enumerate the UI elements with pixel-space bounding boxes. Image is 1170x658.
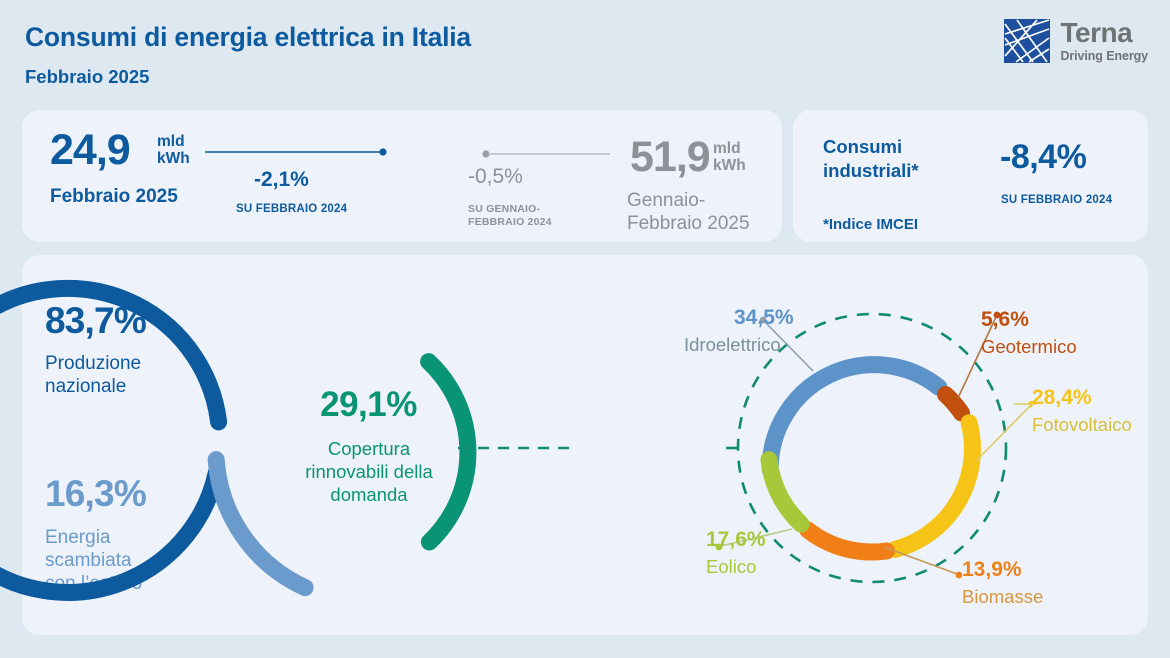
label-idroelettrico-pct: 34,5% — [734, 306, 794, 330]
renewables-center-pct: 29,1% — [281, 385, 456, 425]
ytd-delta-note: SU GENNAIO- FEBBRAIO 2024 — [468, 203, 552, 229]
logo-text: Terna Driving Energy — [1060, 19, 1148, 63]
label-biomasse-name: Biomasse — [962, 586, 1043, 608]
ytd-label: Gennaio- Febbraio 2025 — [627, 190, 750, 236]
monthly-delta-note: SU FEBBRAIO 2024 — [236, 203, 347, 215]
monthly-unit: mld kWh — [157, 134, 190, 167]
logo-name: Terna — [1060, 19, 1148, 47]
label-fotovoltaico-pct: 28,4% — [1032, 386, 1092, 410]
terna-logo: Terna Driving Energy — [1003, 18, 1148, 64]
label-fotovoltaico-name: Fotovoltaico — [1032, 414, 1132, 436]
label-biomasse-pct: 13,9% — [962, 558, 1022, 582]
industrial-footnote: *Indice IMCEI — [823, 216, 918, 233]
terna-grid-logo-icon — [1003, 18, 1051, 64]
mix-segment-fotovoltaico — [895, 423, 972, 550]
page-title: Consumi di energia elettrica in Italia — [25, 22, 471, 53]
monthly-value: 24,9 — [50, 126, 130, 175]
industrial-delta-note: SU FEBBRAIO 2024 — [1001, 194, 1112, 206]
renewables-center-label: Copertura rinnovabili della domanda — [271, 437, 467, 506]
monthly-label: Febbraio 2025 — [50, 186, 178, 208]
ytd-delta: -0,5% — [468, 165, 523, 189]
ytd-value: 51,9 — [630, 133, 710, 182]
page-subtitle: Febbraio 2025 — [25, 66, 149, 88]
ytd-connector-arrow — [482, 142, 622, 166]
monthly-connector-arrow — [205, 140, 395, 164]
label-eolico-name: Eolico — [706, 556, 756, 578]
mix-segment-eolico — [769, 460, 801, 524]
label-geotermico-name: Geotermico — [981, 336, 1077, 358]
imports-pct: 16,3% — [45, 473, 146, 515]
monthly-delta: -2,1% — [254, 168, 309, 192]
header: Consumi di energia elettrica in Italia F… — [0, 0, 1170, 100]
industrial-delta: -8,4% — [1000, 138, 1086, 177]
industrial-title: Consumi industriali* — [823, 135, 919, 182]
label-eolico-pct: 17,6% — [706, 528, 766, 552]
label-geotermico-pct: 5,6% — [981, 308, 1029, 332]
infographic-page: Consumi di energia elettrica in Italia F… — [0, 0, 1170, 658]
production-label: Produzione nazionale — [45, 352, 141, 398]
mix-segment-biomasse — [808, 530, 887, 552]
label-idroelettrico-name: Idroelettrico — [684, 334, 781, 356]
ytd-unit: mld kWh — [713, 141, 746, 174]
mix-segment-idroelettrico — [770, 365, 939, 470]
logo-tagline: Driving Energy — [1060, 50, 1148, 63]
